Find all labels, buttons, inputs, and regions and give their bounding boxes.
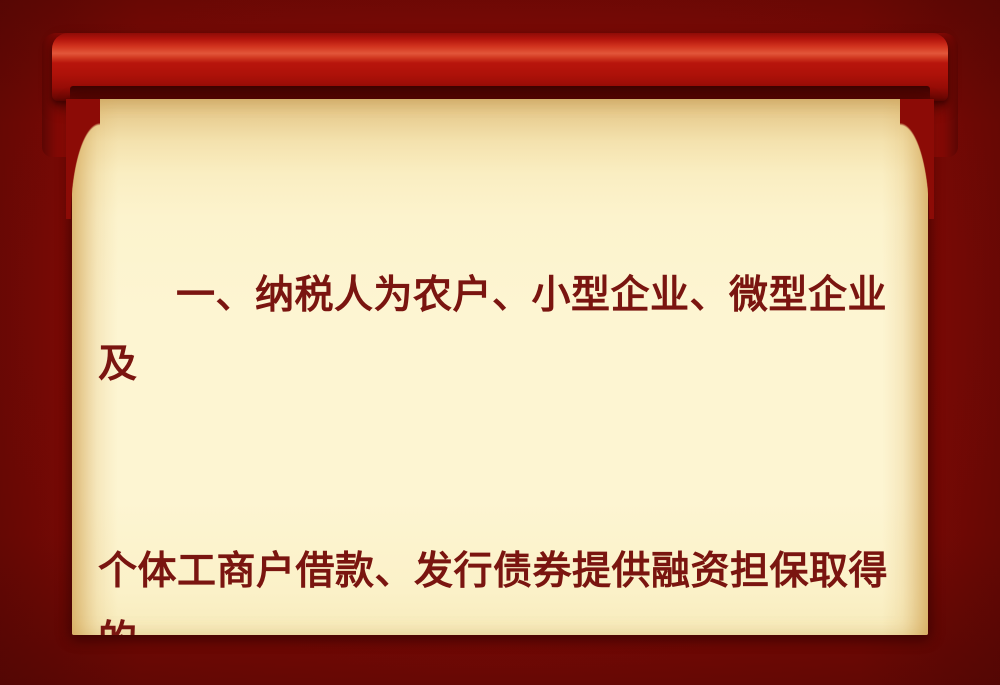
paper-sheet: 一、纳税人为农户、小型企业、微型企业及 个体工商户借款、发行债券提供融资担保取得… bbox=[72, 99, 928, 635]
policy-text-line: 一、纳税人为农户、小型企业、微型企业及 bbox=[98, 261, 902, 399]
policy-text-line: 个体工商户借款、发行债券提供融资担保取得的 bbox=[98, 537, 902, 635]
poster-root: 一、纳税人为农户、小型企业、微型企业及 个体工商户借款、发行债券提供融资担保取得… bbox=[0, 0, 1000, 685]
policy-text-body: 一、纳税人为农户、小型企业、微型企业及 个体工商户借款、发行债券提供融资担保取得… bbox=[72, 99, 928, 635]
